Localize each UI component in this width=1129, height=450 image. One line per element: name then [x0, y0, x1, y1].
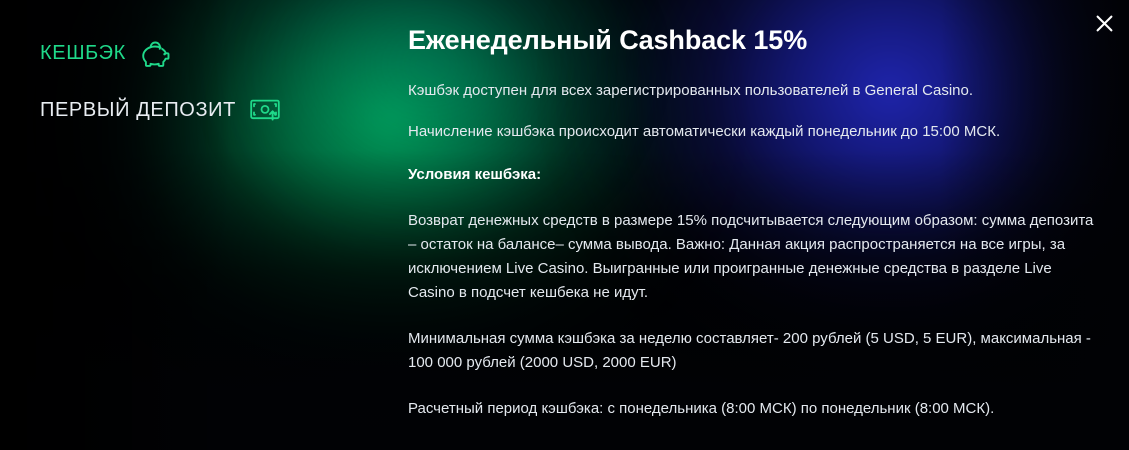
promo-modal: КЕШБЭК ПЕРВЫЙ ДЕПОЗИТ	[0, 0, 1129, 450]
promo-paragraph-3: Возврат денежных средств в размере 15% п…	[408, 209, 1098, 305]
conditions-heading: Условия кешбэка:	[408, 163, 1098, 187]
sidebar-item-cashback[interactable]: КЕШБЭК	[40, 38, 174, 68]
piggy-bank-icon	[140, 38, 174, 68]
page-title: Еженедельный Cashback 15%	[408, 24, 1098, 58]
promo-paragraph-1: Кэшбэк доступен для всех зарегистрирован…	[408, 79, 1098, 103]
banknote-deposit-icon	[250, 98, 280, 122]
close-button[interactable]	[1089, 8, 1119, 38]
promo-paragraph-5: Расчетный период кэшбэка: с понедельника…	[408, 397, 1098, 421]
sidebar-item-label: ПЕРВЫЙ ДЕПОЗИТ	[40, 98, 236, 122]
promo-paragraph-4: Минимальная сумма кэшбэка за неделю сост…	[408, 327, 1098, 375]
sidebar: КЕШБЭК ПЕРВЫЙ ДЕПОЗИТ	[0, 0, 390, 450]
promo-paragraph-2: Начисление кэшбэка происходит автоматиче…	[408, 120, 1098, 144]
sidebar-item-first-deposit[interactable]: ПЕРВЫЙ ДЕПОЗИТ	[40, 98, 280, 122]
close-x-icon	[1096, 15, 1113, 32]
sidebar-item-label: КЕШБЭК	[40, 41, 126, 65]
promo-content: Еженедельный Cashback 15% Кэшбэк доступе…	[408, 24, 1098, 440]
